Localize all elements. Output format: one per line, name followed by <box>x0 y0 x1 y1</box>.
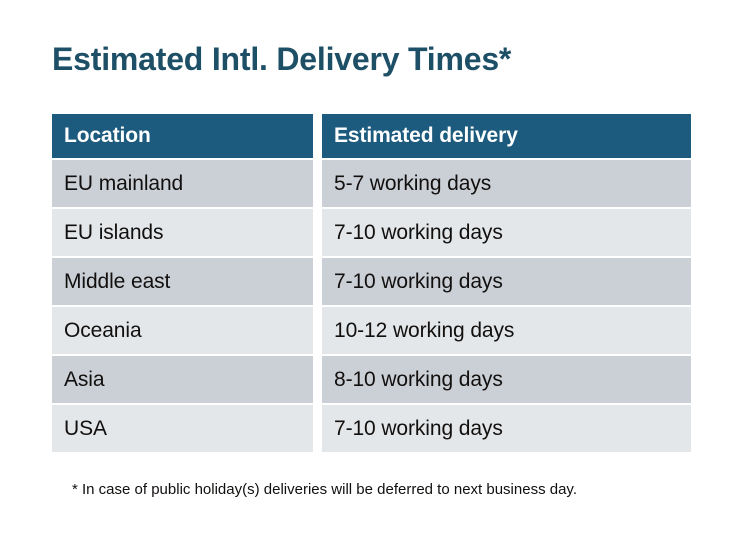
column-header-estimated-delivery: Estimated delivery <box>322 114 691 158</box>
cell-location: USA <box>52 405 313 452</box>
table-row: Asia 8-10 working days <box>52 356 691 403</box>
column-divider-gap <box>313 114 322 158</box>
cell-delivery: 5-7 working days <box>322 160 691 207</box>
cell-divider-gap <box>313 356 322 403</box>
table-header-row: Location Estimated delivery <box>52 114 691 158</box>
cell-divider-gap <box>313 405 322 452</box>
table-row: EU islands 7-10 working days <box>52 209 691 256</box>
table-row: EU mainland 5-7 working days <box>52 160 691 207</box>
cell-delivery: 7-10 working days <box>322 258 691 305</box>
cell-divider-gap <box>313 209 322 256</box>
column-header-location: Location <box>52 114 313 158</box>
footnote-text: * In case of public holiday(s) deliverie… <box>72 480 577 500</box>
cell-divider-gap <box>313 160 322 207</box>
table-row: USA 7-10 working days <box>52 405 691 452</box>
table-row: Middle east 7-10 working days <box>52 258 691 305</box>
estimated-delivery-times-table: Location Estimated delivery EU mainland … <box>52 114 691 452</box>
cell-location: EU islands <box>52 209 313 256</box>
cell-delivery: 10-12 working days <box>322 307 691 354</box>
page-title: Estimated Intl. Delivery Times* <box>52 38 511 80</box>
delivery-times-page: Estimated Intl. Delivery Times* Location… <box>0 0 745 536</box>
cell-divider-gap <box>313 258 322 305</box>
cell-delivery: 8-10 working days <box>322 356 691 403</box>
cell-location: Asia <box>52 356 313 403</box>
cell-delivery: 7-10 working days <box>322 209 691 256</box>
cell-divider-gap <box>313 307 322 354</box>
cell-location: EU mainland <box>52 160 313 207</box>
cell-delivery: 7-10 working days <box>322 405 691 452</box>
cell-location: Oceania <box>52 307 313 354</box>
table-row: Oceania 10-12 working days <box>52 307 691 354</box>
table-body: EU mainland 5-7 working days EU islands … <box>52 158 691 452</box>
cell-location: Middle east <box>52 258 313 305</box>
